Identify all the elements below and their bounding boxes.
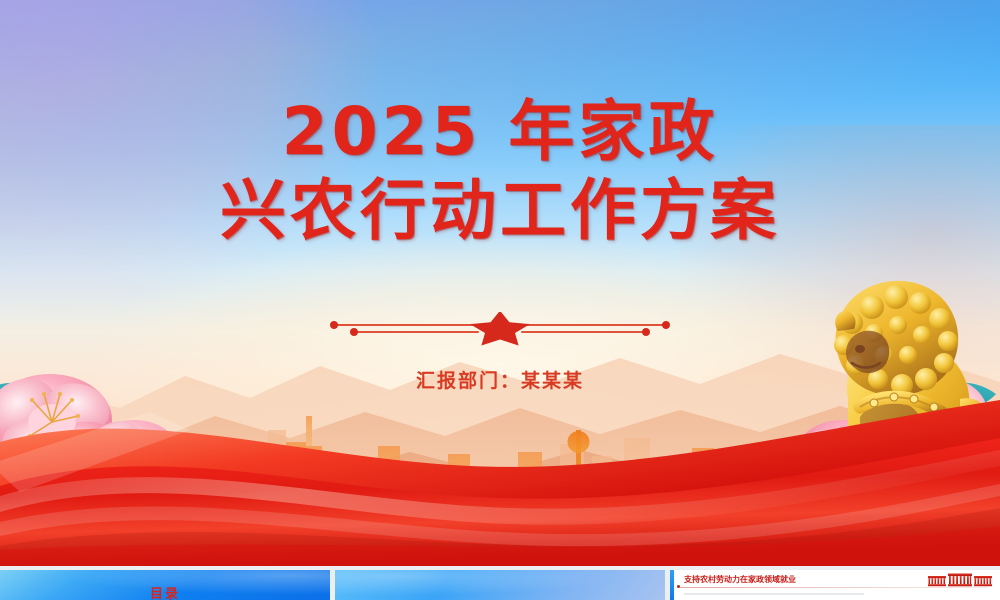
thumbnail-content-slide[interactable]: 支持农村劳动力在家政领域就业 — [670, 570, 1000, 600]
slide-thumbnail-strip: 目录 支持农村劳动力在家政领域就业 — [0, 566, 1000, 600]
thumbnail-heading-text: 支持农村劳动力在家政领域就业 — [684, 574, 796, 585]
thumbnail-content-background: 支持农村劳动力在家政领域就业 — [670, 570, 1000, 600]
thumbnail-heading-rule — [680, 587, 988, 588]
page-title-line2: 兴农行动工作方案 — [0, 175, 1000, 246]
thumbnail-toc-label: 目录 — [0, 583, 330, 600]
subtitle-department: 汇报部门：某某某 — [0, 366, 1000, 393]
government-building-icon — [928, 573, 992, 587]
thumbnail-toc-slide[interactable]: 目录 — [0, 570, 330, 600]
thumbnail-body-line — [684, 593, 864, 595]
star-divider — [300, 312, 700, 346]
title-block: 2025 年家政 兴农行动工作方案 — [0, 96, 1000, 247]
thumbnail-blue-background — [335, 570, 665, 600]
five-pointed-star-icon — [470, 312, 530, 345]
thumbnail-toc-background: 目录 — [0, 570, 330, 600]
page-title-line1: 2025 年家政 — [0, 96, 1000, 167]
presentation-viewer: 2025 年家政 兴农行动工作方案 — [0, 0, 1000, 600]
title-slide[interactable]: 2025 年家政 兴农行动工作方案 — [0, 0, 1000, 566]
thumbnail-blue-slide[interactable] — [335, 570, 665, 600]
thumbnail-accent-bar — [670, 570, 674, 600]
